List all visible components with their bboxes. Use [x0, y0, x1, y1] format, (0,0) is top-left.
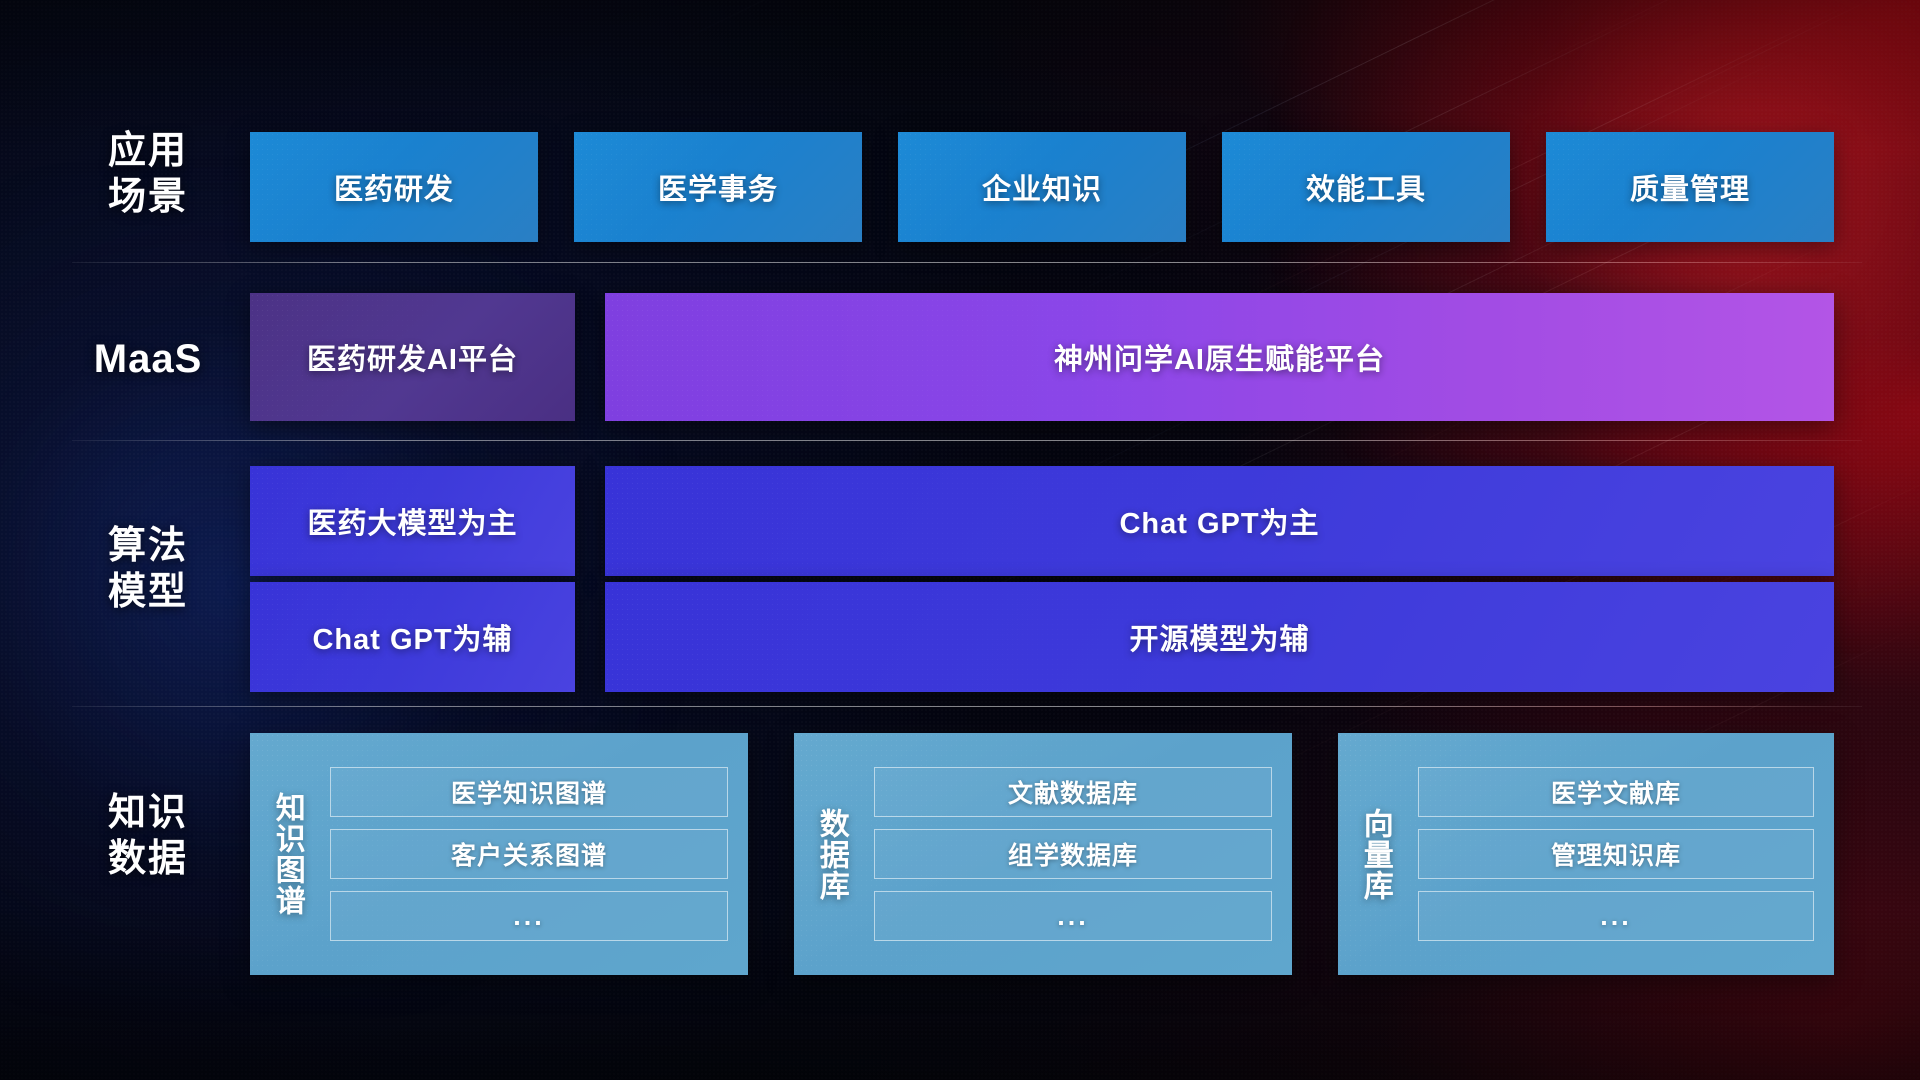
app-card-quality-management[interactable]: 质量管理: [1546, 132, 1834, 242]
knowledge-item[interactable]: 组学数据库: [874, 829, 1272, 879]
app-card-enterprise-knowledge[interactable]: 企业知识: [898, 132, 1186, 242]
algo-card-label: Chat GPT为主: [1119, 500, 1319, 542]
knowledge-item[interactable]: 医学知识图谱: [330, 767, 728, 817]
maas-card-label: 医药研发AI平台: [307, 336, 518, 378]
knowledge-item-more[interactable]: ...: [1418, 891, 1814, 941]
maas-card-medicine-ai-platform[interactable]: 医药研发AI平台: [250, 293, 575, 421]
knowledge-item-list: 文献数据库 组学数据库 ...: [868, 733, 1292, 975]
algo-card-chatgpt-primary[interactable]: Chat GPT为主: [605, 466, 1834, 576]
tier-label-knowledge: 知识 数据: [68, 790, 228, 883]
maas-card-shenzhou-wenxue-platform[interactable]: 神州问学AI原生赋能平台: [605, 293, 1834, 421]
algo-card-chatgpt-secondary[interactable]: Chat GPT为辅: [250, 582, 575, 692]
app-card-medical-affairs[interactable]: 医学事务: [574, 132, 862, 242]
knowledge-group-title: 数据库: [794, 733, 868, 975]
knowledge-group-title: 知识图谱: [250, 733, 324, 975]
knowledge-item[interactable]: 管理知识库: [1418, 829, 1814, 879]
app-card-label: 企业知识: [982, 166, 1102, 208]
knowledge-item-list: 医学知识图谱 客户关系图谱 ...: [324, 733, 748, 975]
knowledge-item[interactable]: 文献数据库: [874, 767, 1272, 817]
knowledge-item[interactable]: 客户关系图谱: [330, 829, 728, 879]
app-card-medicine-rd[interactable]: 医药研发: [250, 132, 538, 242]
maas-card-label: 神州问学AI原生赋能平台: [1054, 336, 1385, 378]
knowledge-item[interactable]: 医学文献库: [1418, 767, 1814, 817]
app-card-label: 效能工具: [1306, 166, 1426, 208]
tier-label-algorithm: 算法 模型: [68, 523, 228, 616]
knowledge-group-title: 向量库: [1338, 733, 1412, 975]
knowledge-item-list: 医学文献库 管理知识库 ...: [1412, 733, 1834, 975]
algo-card-medicine-llm-primary[interactable]: 医药大模型为主: [250, 466, 575, 576]
tier-divider-1: [72, 262, 1862, 263]
knowledge-group-vector-store[interactable]: 向量库 医学文献库 管理知识库 ...: [1338, 733, 1834, 975]
knowledge-item-more[interactable]: ...: [874, 891, 1272, 941]
algo-card-label: 开源模型为辅: [1129, 616, 1309, 658]
tier-divider-2: [72, 440, 1862, 441]
knowledge-group-knowledge-graph[interactable]: 知识图谱 医学知识图谱 客户关系图谱 ...: [250, 733, 748, 975]
tier-divider-3: [72, 706, 1862, 707]
app-card-label: 医药研发: [334, 166, 454, 208]
tier-label-maas: MaaS: [68, 335, 228, 384]
algo-card-opensource-secondary[interactable]: 开源模型为辅: [605, 582, 1834, 692]
tier-label-application: 应用 场景: [68, 128, 228, 221]
algo-card-label: 医药大模型为主: [307, 500, 517, 542]
knowledge-item-more[interactable]: ...: [330, 891, 728, 941]
knowledge-group-database[interactable]: 数据库 文献数据库 组学数据库 ...: [794, 733, 1292, 975]
algo-card-label: Chat GPT为辅: [312, 616, 512, 658]
app-card-efficiency-tools[interactable]: 效能工具: [1222, 132, 1510, 242]
architecture-diagram: 应用 场景 医药研发 医学事务 企业知识 效能工具 质量管理 MaaS 医药研发…: [0, 0, 1920, 1080]
app-card-label: 质量管理: [1630, 166, 1750, 208]
app-card-label: 医学事务: [658, 166, 778, 208]
